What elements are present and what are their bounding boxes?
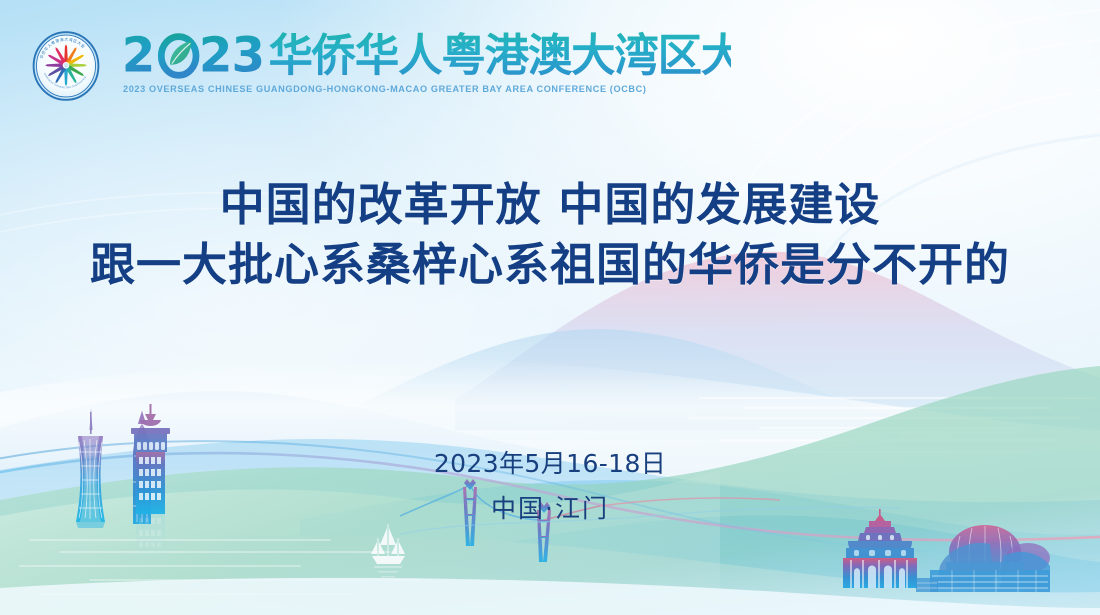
event-date: 2023年5月16-18日	[0, 444, 1100, 480]
ocbc-starburst-emblem: 华侨华人粤港澳大湾区大会 OVERSEAS CHINESE GBA CONFER…	[30, 30, 102, 102]
logo-subtitle-en: 2023 OVERSEAS CHINESE GUANGDONG-HONGKONG…	[123, 84, 728, 94]
headline-block: 中国的改革开放 中国的发展建设 跟一大批心系桑梓心系祖国的华侨是分不开的	[0, 178, 1100, 291]
headline-line-2: 跟一大批心系桑梓心系祖国的华侨是分不开的	[0, 238, 1100, 291]
conference-banner: 华侨华人粤港澳大湾区大会 OVERSEAS CHINESE GBA CONFER…	[0, 0, 1100, 615]
svg-text:23: 23	[199, 27, 264, 82]
logo-text-group: 2 23 华侨华人粤港澳大湾区大会 2023 OVERSEAS CHINESE …	[111, 26, 731, 94]
sailing-ship-icon	[371, 524, 405, 577]
dome-convention-center-icon	[916, 525, 1050, 592]
logo-title-graphic: 2 23 华侨华人粤港澳大湾区大会	[111, 26, 731, 82]
event-info-block: 2023年5月16-18日 中国·江门	[0, 444, 1100, 525]
headline-line-1: 中国的改革开放 中国的发展建设	[0, 178, 1100, 231]
svg-text:2: 2	[122, 27, 155, 82]
event-location: 中国·江门	[0, 489, 1100, 525]
svg-text:华侨华人粤港澳大湾区大会: 华侨华人粤港澳大湾区大会	[268, 30, 731, 81]
conference-logo: 华侨华人粤港澳大湾区大会 OVERSEAS CHINESE GBA CONFER…	[30, 28, 731, 102]
